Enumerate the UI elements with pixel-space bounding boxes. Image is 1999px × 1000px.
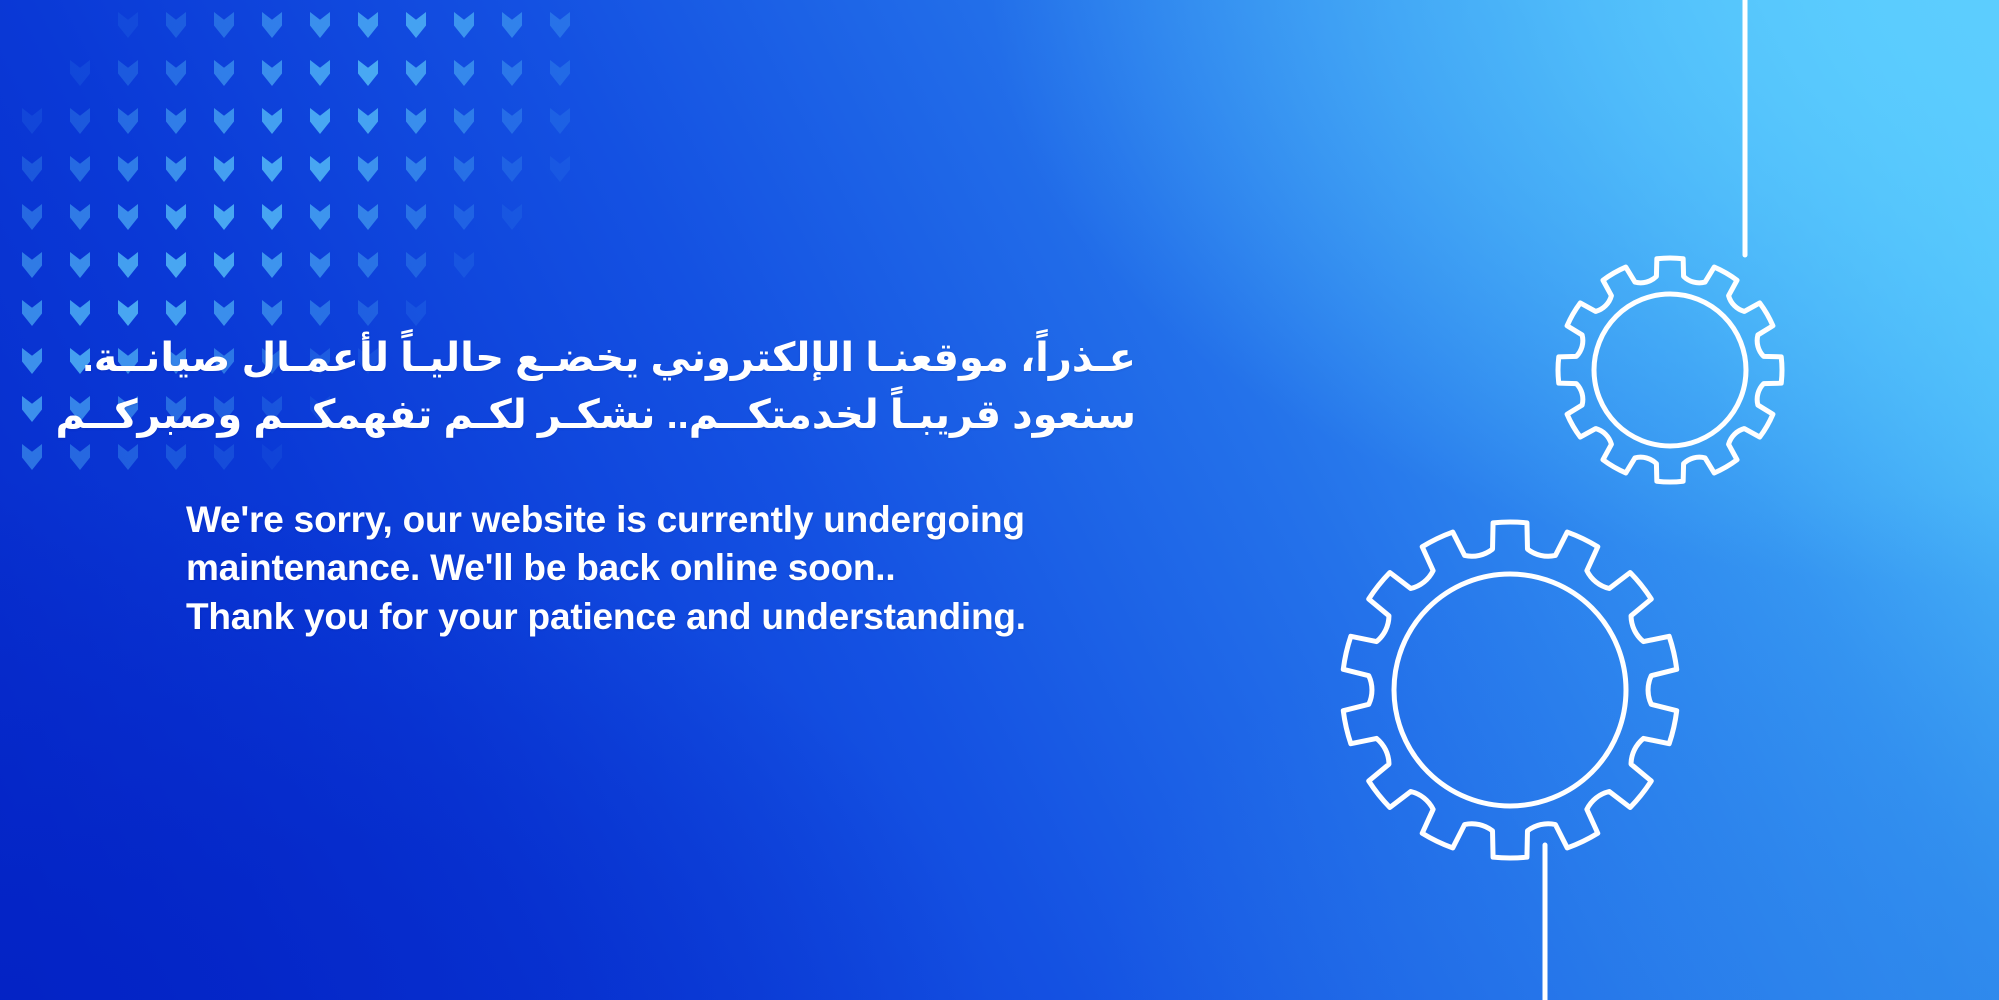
english-line-3: Thank you for your patience and understa… [186, 593, 1206, 642]
arabic-line-2: سنعود قريبـاً لخدمتكــم.. نشكـر لكـم تفه… [186, 387, 1136, 444]
maintenance-page: عـذراً، موقعنـا الإلكتروني يخضـع حاليـاً… [0, 0, 1999, 1000]
english-line-2: maintenance. We'll be back online soon.. [186, 544, 1206, 593]
arabic-line-1: عـذراً، موقعنـا الإلكتروني يخضـع حاليـاً… [186, 330, 1136, 387]
english-message: We're sorry, our website is currently un… [186, 496, 1206, 642]
english-line-1: We're sorry, our website is currently un… [186, 496, 1206, 545]
message-content: عـذراً، موقعنـا الإلكتروني يخضـع حاليـاً… [186, 330, 1206, 642]
arabic-message: عـذراً، موقعنـا الإلكتروني يخضـع حاليـاً… [186, 330, 1136, 444]
